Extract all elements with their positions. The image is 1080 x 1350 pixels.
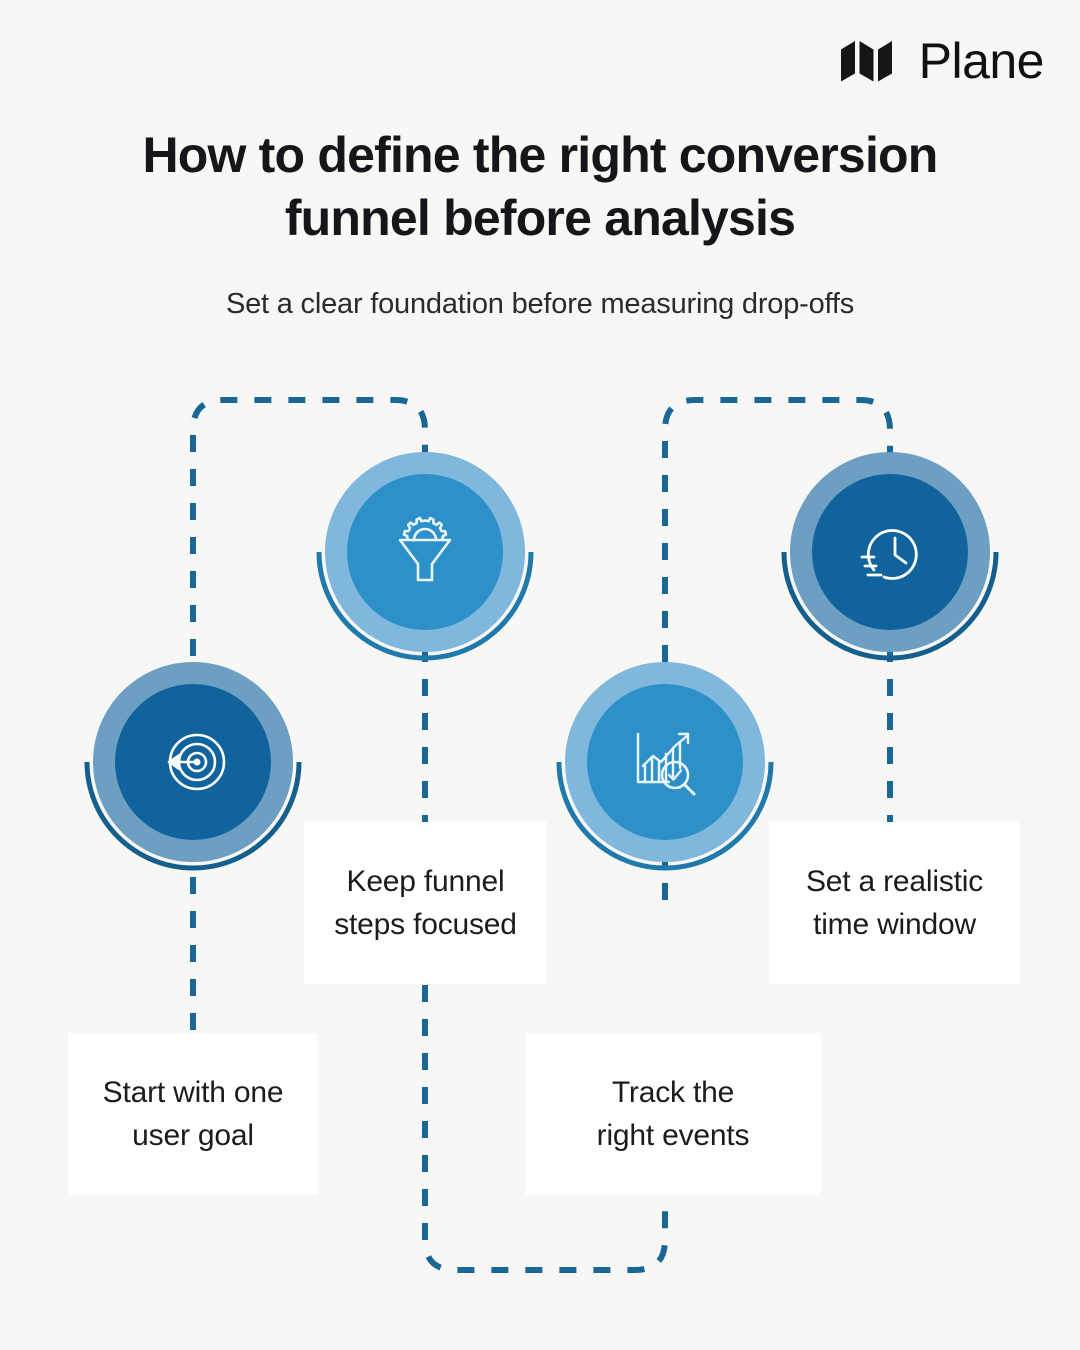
target-arrow-icon bbox=[151, 720, 235, 804]
node-step-2[interactable] bbox=[325, 452, 525, 652]
bar-chart-magnifier-check-icon bbox=[623, 720, 707, 804]
node-step-4[interactable] bbox=[790, 452, 990, 652]
node-ring-inner-step-3 bbox=[587, 684, 743, 840]
node-step-3[interactable] bbox=[565, 662, 765, 862]
label-card-step-1: Start with one user goal bbox=[68, 1033, 318, 1195]
label-step-1: Start with one user goal bbox=[103, 1071, 284, 1158]
node-ring-inner-step-2 bbox=[347, 474, 503, 630]
infographic-canvas: Plane How to define the right conversion… bbox=[0, 0, 1080, 1350]
label-step-3: Track the right events bbox=[597, 1071, 750, 1158]
label-card-step-3: Track the right events bbox=[525, 1033, 821, 1195]
label-step-4: Set a realistic time window bbox=[806, 860, 983, 947]
funnel-gear-icon bbox=[383, 510, 467, 594]
label-card-step-2: Keep funnel steps focused bbox=[304, 822, 547, 984]
label-card-step-4: Set a realistic time window bbox=[769, 822, 1020, 984]
clock-speed-icon bbox=[848, 510, 932, 594]
node-ring-inner-step-1 bbox=[115, 684, 271, 840]
node-ring-inner-step-4 bbox=[812, 474, 968, 630]
label-step-2: Keep funnel steps focused bbox=[334, 860, 517, 947]
node-step-1[interactable] bbox=[93, 662, 293, 862]
